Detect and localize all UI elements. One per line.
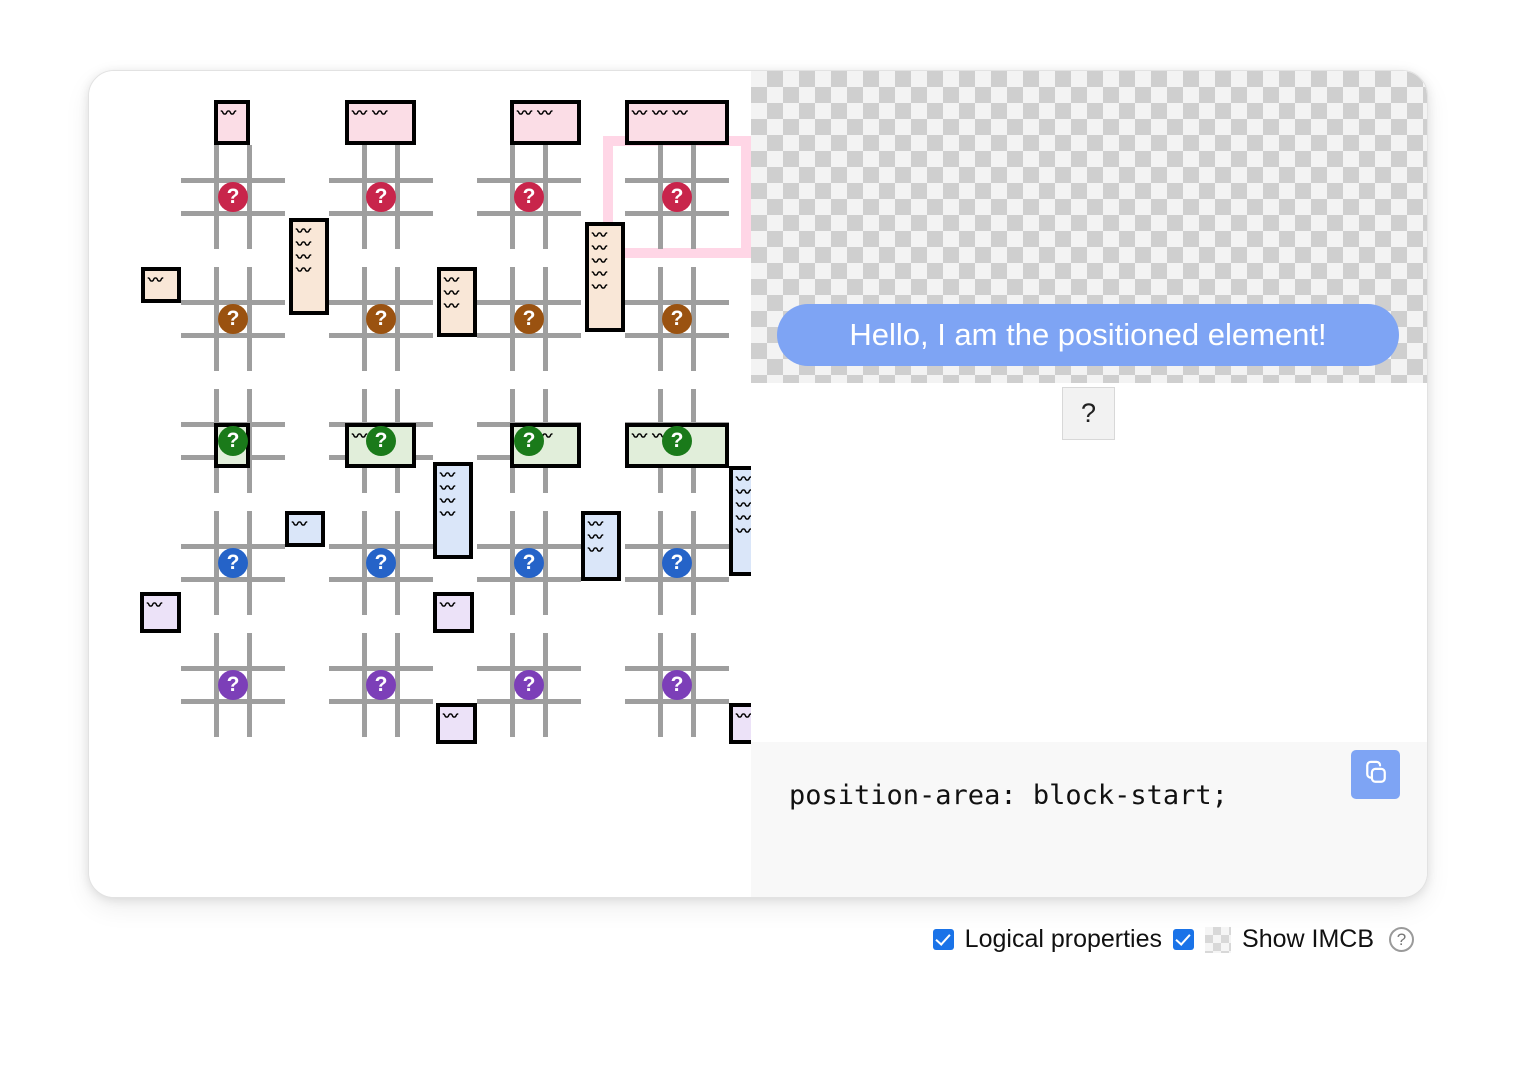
grid-lines: 〰〰〰〰? — [329, 511, 433, 615]
code-panel: position-area: block-start; — [751, 742, 1427, 897]
position-area-option[interactable]: 〰? — [455, 624, 603, 746]
anchor-dot: ? — [218, 304, 248, 334]
position-area-option[interactable]: 〰? — [603, 624, 751, 746]
positioned-box-preview: 〰 〰 — [345, 100, 416, 145]
page-root: 〰?〰 〰?〰 〰?〰 〰 〰?〰?〰〰〰〰?〰〰〰?〰〰〰〰〰?〰?〰 〰?〰… — [0, 0, 1518, 1090]
grid-lines: 〰 〰? — [477, 145, 581, 249]
grid-lines: 〰? — [181, 267, 285, 371]
anchor-dot: ? — [514, 426, 544, 456]
grid-lines: 〰? — [181, 389, 285, 493]
anchor-dot: ? — [366, 426, 396, 456]
grid-lines: 〰〰〰? — [477, 511, 581, 615]
grid-lines: 〰? — [181, 511, 285, 615]
anchor-element[interactable]: ? — [1062, 387, 1115, 440]
anchor-dot: ? — [662, 670, 692, 700]
position-area-option[interactable]: 〰〰〰? — [455, 258, 603, 380]
anchor-dot: ? — [662, 548, 692, 578]
grid-lines: 〰? — [181, 633, 285, 737]
position-area-option[interactable]: 〰 〰 〰? — [603, 136, 751, 258]
grid-lines: 〰 〰? — [477, 389, 581, 493]
positioned-box-preview: 〰 — [436, 703, 477, 744]
position-area-option[interactable]: 〰? — [307, 624, 455, 746]
positioned-box-preview: 〰 — [141, 267, 181, 303]
position-area-option[interactable]: 〰〰〰〰〰? — [603, 258, 751, 380]
grid-lines: 〰? — [477, 633, 581, 737]
position-area-option[interactable]: 〰〰〰〰? — [307, 258, 455, 380]
grid-lines: 〰〰〰〰? — [329, 267, 433, 371]
picker-panel: 〰?〰 〰?〰 〰?〰 〰 〰?〰?〰〰〰〰?〰〰〰?〰〰〰〰〰?〰?〰 〰?〰… — [89, 71, 751, 897]
positioned-box-preview: 〰 〰 — [510, 100, 581, 145]
position-area-option[interactable]: 〰〰〰〰〰? — [603, 502, 751, 624]
grid-lines: 〰 〰 〰? — [625, 145, 729, 249]
anchor-dot: ? — [662, 304, 692, 334]
anchor-dot: ? — [514, 304, 544, 334]
imcb-swatch-icon — [1205, 927, 1231, 953]
anchor-dot: ? — [366, 548, 396, 578]
anchor-dot: ? — [514, 182, 544, 212]
positioned-box-preview: 〰〰〰 — [437, 267, 477, 337]
grid-lines: 〰 〰? — [329, 389, 433, 493]
anchor-dot: ? — [514, 548, 544, 578]
anchor-dot: ? — [662, 182, 692, 212]
anchor-dot: ? — [662, 426, 692, 456]
positioned-box-preview: 〰 〰 〰 — [625, 100, 729, 145]
positioned-box-preview: 〰〰〰〰〰 — [585, 222, 625, 332]
positioned-box-preview: 〰 — [214, 100, 250, 145]
position-area-option[interactable]: 〰 〰? — [455, 380, 603, 502]
logical-properties-checkbox[interactable] — [933, 929, 954, 950]
help-icon[interactable]: ? — [1389, 927, 1414, 952]
anchor-dot: ? — [218, 426, 248, 456]
grid-lines: 〰〰〰〰〰? — [625, 267, 729, 371]
copy-icon — [1362, 759, 1390, 790]
anchor-dot: ? — [366, 670, 396, 700]
anchor-dot: ? — [218, 670, 248, 700]
grid-lines: 〰〰〰〰〰? — [625, 511, 729, 615]
positioned-element: Hello, I am the positioned element! — [777, 304, 1399, 366]
show-imcb-checkbox[interactable] — [1173, 929, 1194, 950]
copy-button[interactable] — [1351, 750, 1400, 799]
position-area-option[interactable]: 〰? — [159, 380, 307, 502]
code-declaration: position-area: block-start; — [789, 780, 1228, 811]
position-area-option[interactable]: 〰? — [159, 502, 307, 624]
position-area-option[interactable]: 〰〰〰? — [455, 502, 603, 624]
position-area-grid[interactable]: 〰?〰 〰?〰 〰?〰 〰 〰?〰?〰〰〰〰?〰〰〰?〰〰〰〰〰?〰?〰 〰?〰… — [159, 136, 751, 746]
grid-lines: 〰 〰? — [329, 145, 433, 249]
show-imcb-label[interactable]: Show IMCB — [1242, 925, 1374, 954]
positioned-box-preview: 〰 — [140, 592, 181, 633]
position-area-option[interactable]: 〰? — [159, 136, 307, 258]
logical-properties-label[interactable]: Logical properties — [965, 925, 1162, 954]
anchor-dot: ? — [218, 182, 248, 212]
position-area-option[interactable]: 〰? — [159, 624, 307, 746]
positioned-box-preview: 〰〰〰〰 — [289, 218, 329, 315]
preview-panel: Hello, I am the positioned element! ? po… — [751, 71, 1427, 897]
grid-lines: 〰〰〰? — [477, 267, 581, 371]
position-area-option[interactable]: 〰 〰? — [307, 136, 455, 258]
anchor-dot: ? — [366, 182, 396, 212]
anchor-dot: ? — [514, 670, 544, 700]
anchor-dot: ? — [218, 548, 248, 578]
position-area-option[interactable]: 〰? — [159, 258, 307, 380]
grid-lines: 〰? — [181, 145, 285, 249]
picker-card: 〰?〰 〰?〰 〰?〰 〰 〰?〰?〰〰〰〰?〰〰〰?〰〰〰〰〰?〰?〰 〰?〰… — [88, 70, 1428, 898]
grid-lines: 〰? — [329, 633, 433, 737]
anchor-dot: ? — [366, 304, 396, 334]
grid-lines: 〰 〰 〰? — [625, 389, 729, 493]
footer-controls: Logical properties Show IMCB ? — [0, 925, 1518, 954]
grid-lines: 〰? — [625, 633, 729, 737]
position-area-option[interactable]: 〰 〰? — [455, 136, 603, 258]
